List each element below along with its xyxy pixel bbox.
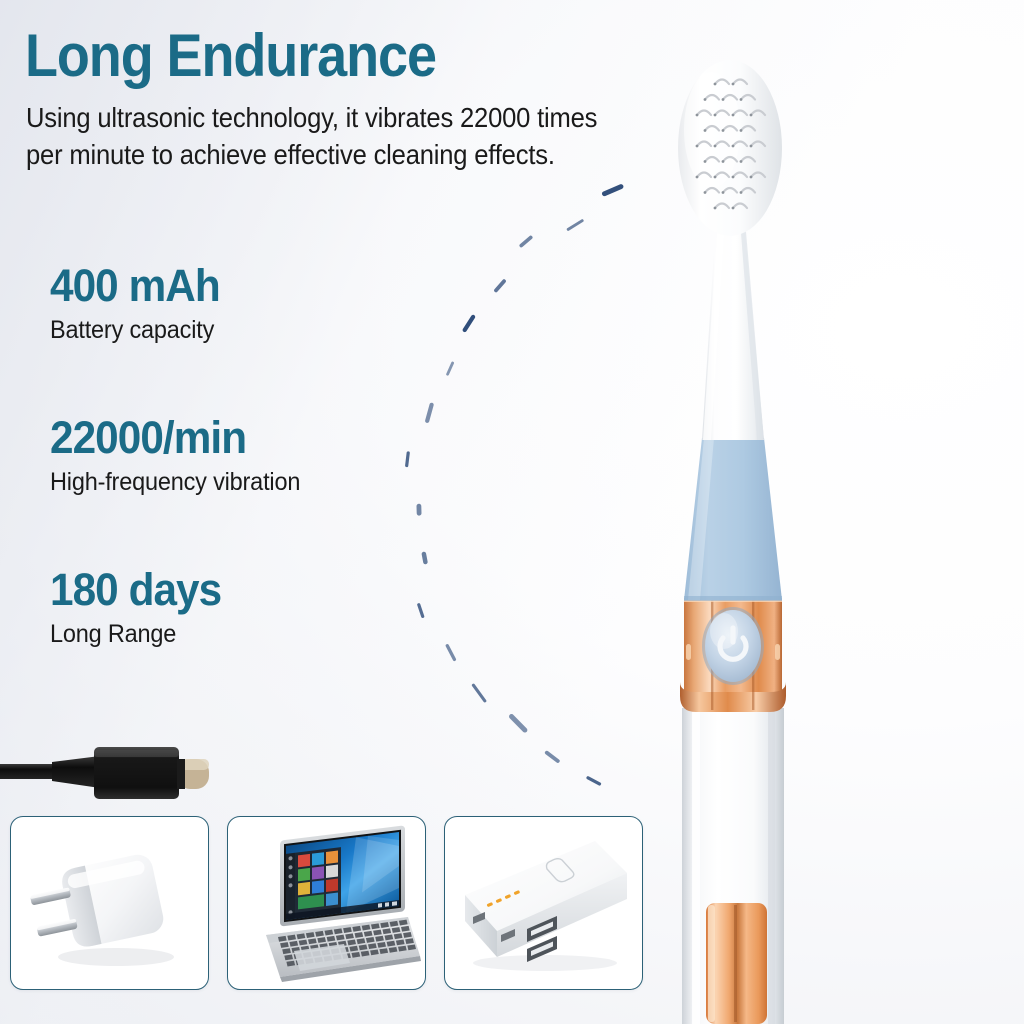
spec-label-frequency: High-frequency vibration [50, 467, 454, 498]
wall-charger-icon [11, 817, 208, 989]
spec-value-frequency: 22000/min [50, 414, 454, 462]
power-button [702, 607, 764, 685]
laptop-icon [228, 817, 425, 989]
thumbnail-card-wall-charger[interactable] [10, 816, 209, 990]
spec-label-range: Long Range [50, 619, 454, 650]
spec-item-frequency: 22000/min High-frequency vibration [50, 414, 480, 498]
spec-label-battery: Battery capacity [50, 315, 454, 346]
electric-toothbrush-product-image [612, 48, 912, 1024]
spec-value-range: 180 days [50, 566, 454, 614]
thumbnail-card-laptop[interactable] [227, 816, 426, 990]
spec-item-range: 180 days Long Range [50, 566, 480, 650]
spec-item-battery: 400 mAh Battery capacity [50, 262, 480, 346]
spec-value-battery: 400 mAh [50, 262, 454, 310]
intro-paragraph: Using ultrasonic technology, it vibrates… [26, 100, 621, 173]
page-title: Long Endurance [25, 24, 436, 89]
compatible-devices-thumbnails [10, 816, 643, 990]
brush-head [678, 60, 782, 236]
product-feature-graphic: Long Endurance Using ultrasonic technolo… [0, 0, 1024, 1024]
usb-c-cable-image [0, 726, 246, 812]
spec-list: 400 mAh Battery capacity 22000/min High-… [50, 262, 480, 650]
